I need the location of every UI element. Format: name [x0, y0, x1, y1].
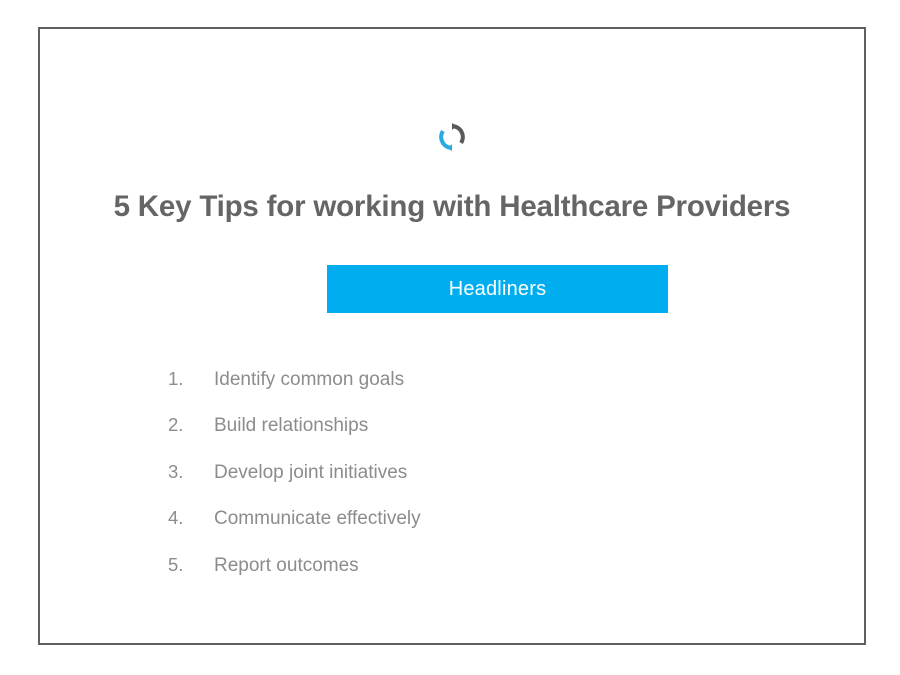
list-item: 4. Communicate effectively: [168, 509, 808, 555]
list-item-label: Communicate effectively: [214, 509, 421, 528]
list-item: 1. Identify common goals: [168, 370, 808, 416]
list-item: 3. Develop joint initiatives: [168, 463, 808, 509]
list-item-number: 4.: [168, 509, 214, 528]
logo-container: [40, 122, 864, 152]
list-item-label: Identify common goals: [214, 370, 404, 389]
list-item-number: 3.: [168, 463, 214, 482]
list-item-number: 1.: [168, 370, 214, 389]
slide-canvas: 5 Key Tips for working with Healthcare P…: [0, 0, 900, 675]
list-item: 2. Build relationships: [168, 416, 808, 462]
sync-refresh-icon: [437, 122, 467, 152]
list-item: 5. Report outcomes: [168, 556, 808, 602]
list-item-number: 5.: [168, 556, 214, 575]
list-item-label: Develop joint initiatives: [214, 463, 407, 482]
list-item-number: 2.: [168, 416, 214, 435]
headliners-banner: Headliners: [327, 265, 668, 313]
page-title: 5 Key Tips for working with Healthcare P…: [40, 189, 864, 224]
tips-list: 1. Identify common goals 2. Build relati…: [168, 370, 808, 602]
list-item-label: Report outcomes: [214, 556, 359, 575]
slide-frame: 5 Key Tips for working with Healthcare P…: [38, 27, 866, 645]
banner-label: Headliners: [449, 279, 547, 299]
list-item-label: Build relationships: [214, 416, 368, 435]
